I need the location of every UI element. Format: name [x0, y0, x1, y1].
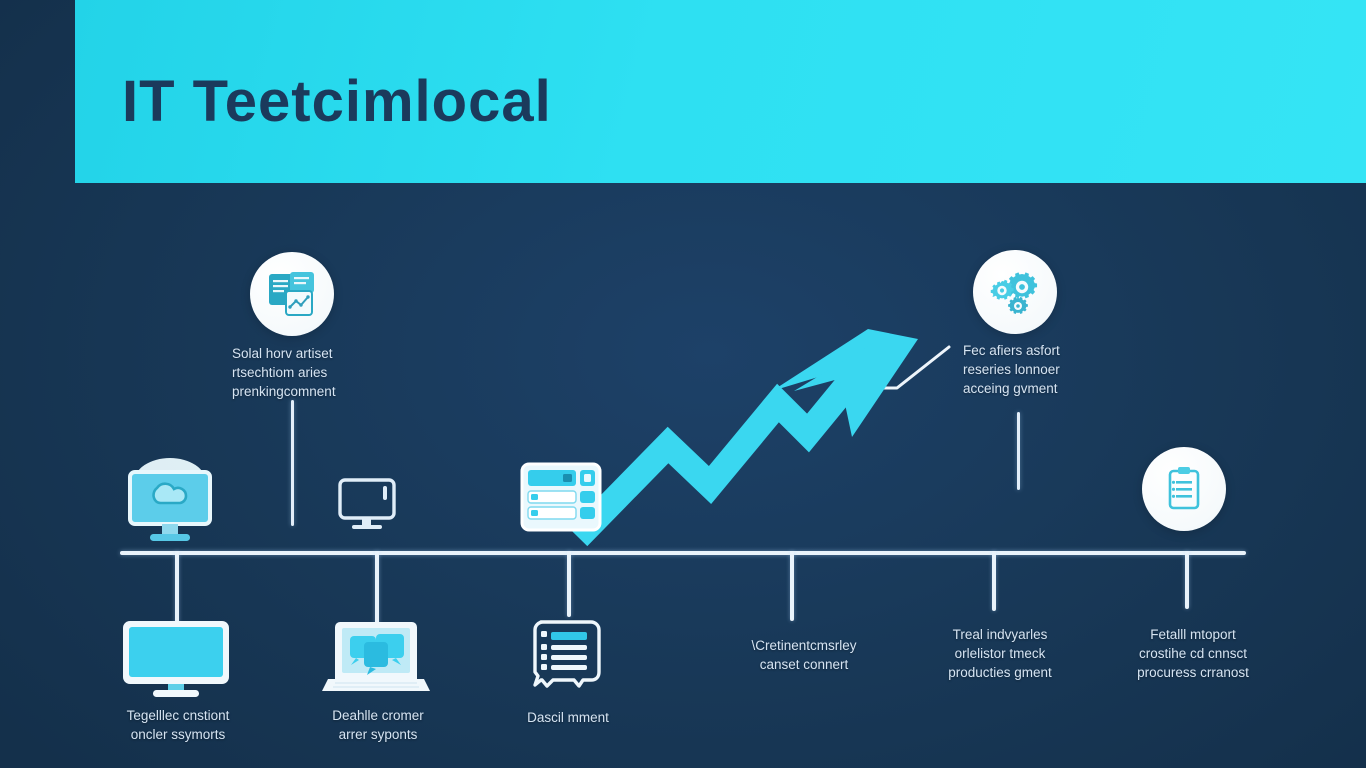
- caption-line: Dascil mment: [494, 708, 642, 727]
- document-list-icon: [523, 618, 609, 698]
- badge-clipboard[interactable]: [1142, 447, 1226, 531]
- documents-chart-icon: [266, 269, 318, 319]
- caption-line: acceing gvment: [963, 379, 1113, 398]
- caption-line: prenkingcomnent: [232, 382, 372, 401]
- timeline-tick: [375, 551, 379, 625]
- clipboard-icon: [1163, 465, 1205, 513]
- caption-line: Treal indvyarles: [918, 625, 1082, 644]
- icon-document-list[interactable]: [523, 618, 609, 703]
- caption-line: crostihe cd cnnsct: [1108, 644, 1278, 663]
- monitor-icon: [120, 618, 232, 700]
- timeline-tick: [992, 551, 996, 611]
- caption-line: producties gment: [918, 663, 1082, 682]
- caption-line: Deahlle cromer: [296, 706, 460, 725]
- caption-line: reseries lonnoer: [963, 360, 1113, 379]
- bottom-node-2-caption: Deahlle cromer arrer syponts: [296, 706, 460, 744]
- bottom-node-1-caption: Tegelllec cnstiont oncler ssymorts: [96, 706, 260, 744]
- bottom-node-4-caption: \Cretinentcmsrley canset connert: [722, 636, 886, 674]
- bottom-node-5-caption: Treal indvyarles orlelistor tmeck produc…: [918, 625, 1082, 682]
- bottom-node-3-caption: Dascil mment: [494, 708, 642, 727]
- connector-line-top-right: [1017, 412, 1020, 490]
- connector-line-top-left: [291, 400, 294, 526]
- caption-line: \Cretinentcmsrley: [722, 636, 886, 655]
- caption-line: Fetalll mtoport: [1108, 625, 1278, 644]
- page-title: IT Teetcimlocal: [122, 68, 552, 135]
- caption-line: arrer syponts: [296, 725, 460, 744]
- top-node-1-caption: Solal horv artiset rtsechtiom aries pren…: [232, 344, 372, 401]
- form-panel-icon: [519, 459, 603, 535]
- timeline-tick: [567, 551, 571, 617]
- infographic-canvas: IT Teetcimlocal: [0, 0, 1366, 768]
- laptop-chat-icon: [320, 616, 432, 700]
- icon-monitor[interactable]: [120, 618, 232, 705]
- caption-line: procuress crranost: [1108, 663, 1278, 682]
- caption-line: canset connert: [722, 655, 886, 674]
- icon-form-panel[interactable]: [519, 459, 603, 540]
- caption-line: orlelistor tmeck: [918, 644, 1082, 663]
- monitor-cloud-icon: [120, 452, 220, 550]
- top-node-2-caption: Fec afiers asfort reseries lonnoer accei…: [963, 341, 1113, 398]
- icon-monitor-cloud[interactable]: [120, 452, 220, 555]
- badge-documents-chart[interactable]: [250, 252, 334, 336]
- caption-line: Tegelllec cnstiont: [96, 706, 260, 725]
- caption-line: Solal horv artiset: [232, 344, 372, 363]
- icon-laptop-chat[interactable]: [320, 616, 432, 705]
- timeline-tick: [1185, 551, 1189, 609]
- caption-line: oncler ssymorts: [96, 725, 260, 744]
- bottom-node-6-caption: Fetalll mtoport crostihe cd cnnsct procu…: [1108, 625, 1278, 682]
- icon-monitor-outline[interactable]: [336, 476, 398, 539]
- caption-line: rtsechtiom aries: [232, 363, 372, 382]
- timeline-tick: [790, 551, 794, 621]
- badge-gears[interactable]: [973, 250, 1057, 334]
- monitor-outline-icon: [336, 476, 398, 534]
- gears-icon: [988, 268, 1042, 316]
- caption-line: Fec afiers asfort: [963, 341, 1113, 360]
